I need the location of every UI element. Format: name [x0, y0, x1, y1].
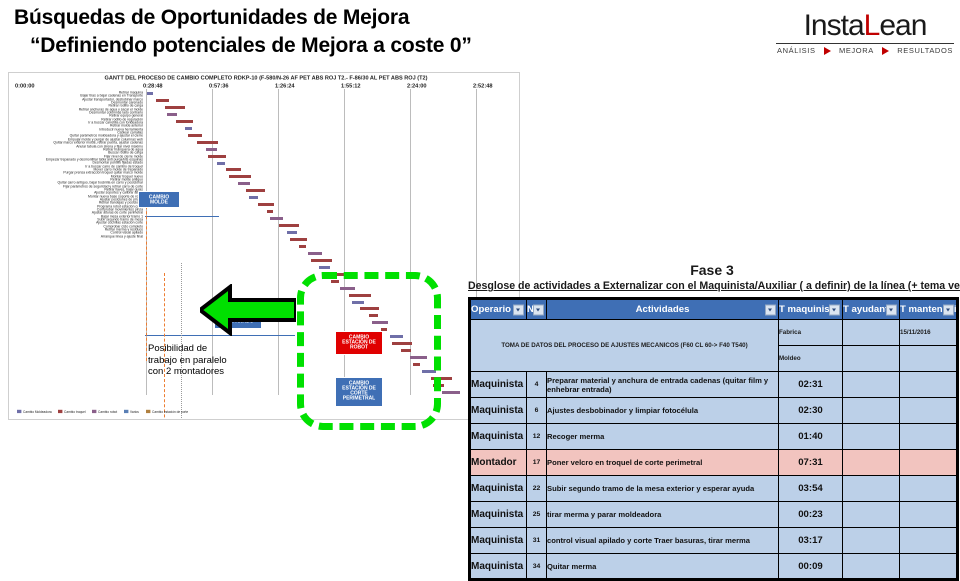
- cell-t-ayudante: [843, 372, 900, 398]
- col-header-label: Actividades: [636, 304, 690, 315]
- cell-actividad: Preparar material y anchura de entrada c…: [547, 372, 779, 398]
- gantt-bar: [267, 210, 273, 213]
- col-header-actividades[interactable]: Actividades: [547, 299, 779, 320]
- gantt-bar: [270, 217, 283, 220]
- col-header-label: Operario: [471, 304, 511, 315]
- gantt-bar: [308, 252, 322, 255]
- gantt-bar: [156, 99, 169, 102]
- cell-actividad: Quitar merma: [547, 554, 779, 580]
- gantt-bar: [249, 196, 258, 199]
- cell-t-ayudante: [843, 450, 900, 476]
- logo-text-ean: ean: [879, 9, 926, 42]
- logo-wordmark: InstaLean: [774, 10, 956, 42]
- legend-item: Cambio estación de corte: [146, 410, 188, 414]
- cell-t-maquinista: 07:31: [779, 450, 843, 476]
- gantt-tick-5: 2:24:00: [407, 82, 426, 89]
- cell-operario: Maquinista: [470, 502, 527, 528]
- cell-t-maquinista: 02:31: [779, 372, 843, 398]
- cell-t-maquinista: 03:17: [779, 528, 843, 554]
- logo-tag-resultados: RESULTADOS: [897, 46, 953, 55]
- col-header-t-mantenimiento[interactable]: T mantenimiento: [900, 299, 958, 320]
- cell-t-maquinista: 01:40: [779, 424, 843, 450]
- cell-actividad: control visual apilado y corte Traer bas…: [547, 528, 779, 554]
- meta-date: 15/11/2016: [900, 320, 958, 346]
- activities-table: TOMA DE DATOS DEL PROCESO DE AJUSTES MEC…: [468, 297, 959, 581]
- legend-item: Cambio robot: [92, 410, 117, 414]
- legend-item: Varios: [124, 410, 139, 414]
- fase3-section: Fase 3 Desglose de actividades a Externa…: [468, 262, 956, 520]
- filter-dropdown-icon[interactable]: [943, 304, 954, 315]
- table-row[interactable]: Maquinista34Quitar merma00:09: [470, 554, 958, 580]
- table-row[interactable]: Maquinista22Subir segundo tramo de la me…: [470, 476, 958, 502]
- fase3-subtitle: Desglose de actividades a Externalizar c…: [468, 280, 956, 293]
- cell-actividad: Ajustes desbobinador y limpiar fotocélul…: [547, 398, 779, 424]
- gantt-bar: [290, 238, 307, 241]
- cell-operario: Maquinista: [470, 528, 527, 554]
- gantt-bar: [229, 175, 251, 178]
- gantt-task-label: Arranque línea y ajuste final: [8, 235, 143, 239]
- gantt-bar: [279, 224, 299, 227]
- gantt-time-axis: 0:00:00 0:28:48 0:57:36 1:26:24 1:55:12 …: [9, 82, 519, 90]
- cell-t-ayudante: [843, 528, 900, 554]
- gantt-bar: [167, 113, 177, 116]
- filter-dropdown-icon[interactable]: [886, 304, 897, 315]
- cell-t-mantenimiento: [900, 450, 958, 476]
- cell-t-maquinista: 03:54: [779, 476, 843, 502]
- table-row[interactable]: Maquinista25tirar merma y parar moldeado…: [470, 502, 958, 528]
- gantt-bar: [217, 162, 225, 165]
- callout-line: MOLDE: [136, 198, 182, 204]
- cell-t-ayudante: [843, 476, 900, 502]
- meta-value-extra: [900, 346, 958, 372]
- cell-t-mantenimiento: [900, 372, 958, 398]
- cell-t-ayudante: [843, 554, 900, 580]
- gantt-tick-1: 0:28:48: [143, 82, 162, 89]
- logo-tag-analisis: ANÁLISIS: [777, 46, 816, 55]
- cell-t-maquinista: 00:09: [779, 554, 843, 580]
- cell-num: 22: [527, 476, 547, 502]
- instalean-logo: InstaLean ANÁLISIS MEJORA RESULTADOS: [774, 10, 956, 62]
- legend-swatch: [146, 410, 150, 413]
- parallel-work-note: Posibilidad de trabajo en paralelo con 2…: [148, 343, 260, 378]
- gantt-tick-2: 0:57:36: [209, 82, 228, 89]
- gantt-bar: [226, 168, 241, 171]
- page-title-line1: Búsquedas de Oportunidades de Mejora: [14, 4, 634, 32]
- meta-label-moldeo: Moldeo: [779, 346, 843, 372]
- table-row[interactable]: Maquinista6Ajustes desbobinador y limpia…: [470, 398, 958, 424]
- legend-label: Cambio Moldeadora: [23, 410, 52, 414]
- legend-swatch: [58, 410, 62, 413]
- legend-item: Cambio troquel: [58, 410, 86, 414]
- cell-operario: Montador: [470, 450, 527, 476]
- gantt-task-label-list: Retirar maquinaBajar tiras a bajar caden…: [19, 91, 143, 238]
- legend-swatch: [17, 410, 21, 413]
- cell-num: 17: [527, 450, 547, 476]
- cell-num: 31: [527, 528, 547, 554]
- cell-operario: Maquinista: [470, 424, 527, 450]
- triangle-right-icon: [824, 47, 831, 55]
- green-arrow-icon: [200, 284, 296, 336]
- meta-value-moldeo: [843, 346, 900, 372]
- legend-label: Cambio troquel: [64, 410, 86, 414]
- gantt-marker-orange-1: [146, 191, 147, 361]
- gantt-gridline: [278, 89, 279, 395]
- fase3-title: Fase 3: [468, 262, 956, 279]
- gantt-callout-cambio-molde: CAMBIO MOLDE: [138, 191, 180, 208]
- logo-tag-mejora: MEJORA: [839, 46, 874, 55]
- filter-dropdown-icon[interactable]: [765, 304, 776, 315]
- cell-t-mantenimiento: [900, 502, 958, 528]
- cell-num: 4: [527, 372, 547, 398]
- cell-t-mantenimiento: [900, 398, 958, 424]
- page-title: Búsquedas de Oportunidades de Mejora “De…: [14, 4, 634, 60]
- logo-text-l: L: [864, 9, 880, 42]
- col-header-t-maquinista[interactable]: T maquinista: [779, 299, 843, 320]
- gantt-bar: [176, 120, 193, 123]
- gantt-bar: [197, 141, 218, 144]
- cell-operario: Maquinista: [470, 554, 527, 580]
- gantt-bar: [206, 148, 217, 151]
- cell-t-mantenimiento: [900, 424, 958, 450]
- gantt-bar: [188, 134, 202, 137]
- gantt-bar: [442, 391, 460, 394]
- legend-label: Cambio estación de corte: [152, 410, 188, 414]
- gantt-bar: [238, 182, 250, 185]
- gantt-legend: Cambio Moldeadora Cambio troquel Cambio …: [17, 409, 184, 415]
- table-row[interactable]: Maquinista31control visual apilado y cor…: [470, 528, 958, 554]
- cell-t-maquinista: 02:30: [779, 398, 843, 424]
- gantt-tick-0: 0:00:00: [15, 82, 34, 89]
- logo-tagline: ANÁLISIS MEJORA RESULTADOS: [774, 46, 956, 55]
- cell-actividad: Recoger merma: [547, 424, 779, 450]
- legend-label: Varios: [130, 410, 139, 414]
- cell-operario: Maquinista: [470, 372, 527, 398]
- gantt-bar: [311, 259, 332, 262]
- cell-actividad: tirar merma y parar moldeadora: [547, 502, 779, 528]
- parallel-note-line3: con 2 montadores: [148, 366, 260, 378]
- gantt-marker-dotted: [181, 263, 182, 420]
- cell-actividad: Poner velcro en troquel de corte perimet…: [547, 450, 779, 476]
- gantt-bar: [208, 155, 226, 158]
- legend-swatch: [92, 410, 96, 413]
- cell-actividad: Subir segundo tramo de la mesa exterior …: [547, 476, 779, 502]
- col-header-operario[interactable]: Operario: [470, 299, 527, 320]
- gantt-bar: [287, 231, 297, 234]
- highlight-region-box: [297, 272, 441, 430]
- gantt-bar: [147, 92, 153, 95]
- col-header-num[interactable]: Nº: [527, 299, 547, 320]
- page-title-line2: “Definiendo potenciales de Mejora a cost…: [14, 32, 634, 60]
- cell-operario: Maquinista: [470, 398, 527, 424]
- col-header-t-ayudante[interactable]: T ayudante: [843, 299, 900, 320]
- cell-t-ayudante: [843, 398, 900, 424]
- cell-t-mantenimiento: [900, 476, 958, 502]
- filter-dropdown-icon[interactable]: [513, 304, 524, 315]
- parallel-note-line2: trabajo en paralelo: [148, 355, 260, 367]
- gantt-bar: [258, 203, 274, 206]
- filter-dropdown-icon[interactable]: [533, 304, 544, 315]
- cell-t-ayudante: [843, 424, 900, 450]
- logo-divider: [776, 43, 954, 44]
- parallel-note-line1: Posibilidad de: [148, 343, 260, 355]
- table-row[interactable]: Montador17Poner velcro en troquel de cor…: [470, 450, 958, 476]
- legend-item: Cambio Moldeadora: [17, 410, 52, 414]
- gantt-bracket-molde: [145, 216, 219, 217]
- table-row[interactable]: Maquinista4Preparar material y anchura d…: [470, 372, 958, 398]
- filter-dropdown-icon[interactable]: [829, 304, 840, 315]
- gantt-bar: [246, 189, 265, 192]
- logo-text-insta: Insta: [804, 9, 864, 42]
- cell-t-ayudante: [843, 502, 900, 528]
- gantt-bar: [319, 266, 330, 269]
- gantt-bar: [299, 245, 306, 248]
- gantt-tick-4: 1:55:12: [341, 82, 360, 89]
- cell-t-mantenimiento: [900, 528, 958, 554]
- table-header-row: Operario Nº Actividades T maquinista T a…: [470, 299, 958, 320]
- cell-t-mantenimiento: [900, 554, 958, 580]
- table-body: Maquinista4Preparar material y anchura d…: [470, 372, 958, 580]
- cell-num: 34: [527, 554, 547, 580]
- legend-label: Cambio robot: [98, 410, 117, 414]
- gantt-bar: [185, 127, 192, 130]
- gantt-tick-3: 1:26:24: [275, 82, 294, 89]
- triangle-right-icon: [882, 47, 889, 55]
- table-row[interactable]: Maquinista12Recoger merma01:40: [470, 424, 958, 450]
- meta-value-fabrica: [843, 320, 900, 346]
- table-caption-row: TOMA DE DATOS DEL PROCESO DE AJUSTES MEC…: [470, 320, 958, 346]
- gantt-title: GANTT DEL PROCESO DE CAMBIO COMPLETO RDK…: [8, 75, 520, 81]
- gantt-chart-image: GANTT DEL PROCESO DE CAMBIO COMPLETO RDK…: [8, 72, 520, 420]
- cell-num: 25: [527, 502, 547, 528]
- cell-t-maquinista: 00:23: [779, 502, 843, 528]
- gantt-bar: [165, 106, 185, 109]
- gantt-tick-6: 2:52:48: [473, 82, 492, 89]
- cell-num: 6: [527, 398, 547, 424]
- cell-operario: Maquinista: [470, 476, 527, 502]
- legend-swatch: [124, 410, 128, 413]
- cell-num: 12: [527, 424, 547, 450]
- meta-label-fabrica: Fabrica: [779, 320, 843, 346]
- table-caption: TOMA DE DATOS DEL PROCESO DE AJUSTES MEC…: [470, 320, 779, 372]
